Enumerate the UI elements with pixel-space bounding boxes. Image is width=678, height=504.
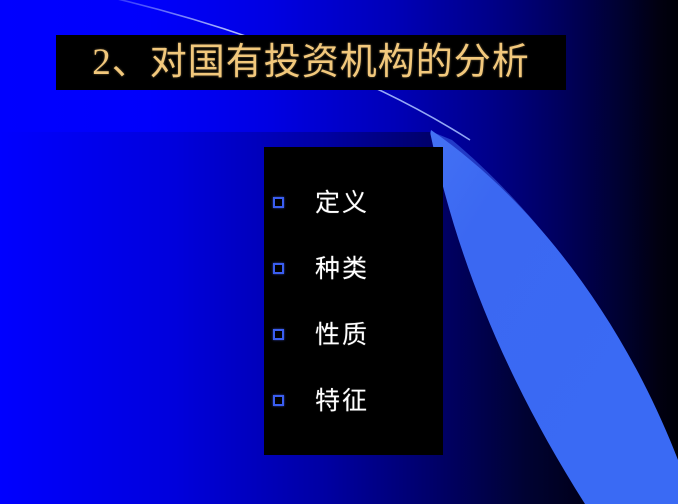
list-item[interactable]: 性质 bbox=[264, 301, 443, 367]
list-item[interactable]: 种类 bbox=[264, 235, 443, 301]
list-item-label: 特征 bbox=[315, 388, 369, 413]
presentation-slide: 2、对国有投资机构的分析 定义 种类 性质 特征 bbox=[0, 0, 678, 504]
list-item-label: 性质 bbox=[315, 322, 369, 347]
page-title: 2、对国有投资机构的分析 bbox=[92, 44, 530, 81]
list-item-label: 定义 bbox=[315, 190, 369, 215]
list-item[interactable]: 定义 bbox=[264, 169, 443, 235]
slide-title-bar: 2、对国有投资机构的分析 bbox=[56, 35, 566, 90]
slide-content-box: 定义 种类 性质 特征 bbox=[264, 147, 443, 455]
hollow-square-bullet-icon bbox=[273, 263, 284, 274]
list-item[interactable]: 特征 bbox=[264, 367, 443, 433]
bullet-list: 定义 种类 性质 特征 bbox=[264, 169, 443, 433]
hollow-square-bullet-icon bbox=[273, 197, 284, 208]
background-swoosh-upper bbox=[430, 131, 678, 504]
list-item-label: 种类 bbox=[315, 256, 369, 281]
hollow-square-bullet-icon bbox=[273, 395, 284, 406]
hollow-square-bullet-icon bbox=[273, 329, 284, 340]
